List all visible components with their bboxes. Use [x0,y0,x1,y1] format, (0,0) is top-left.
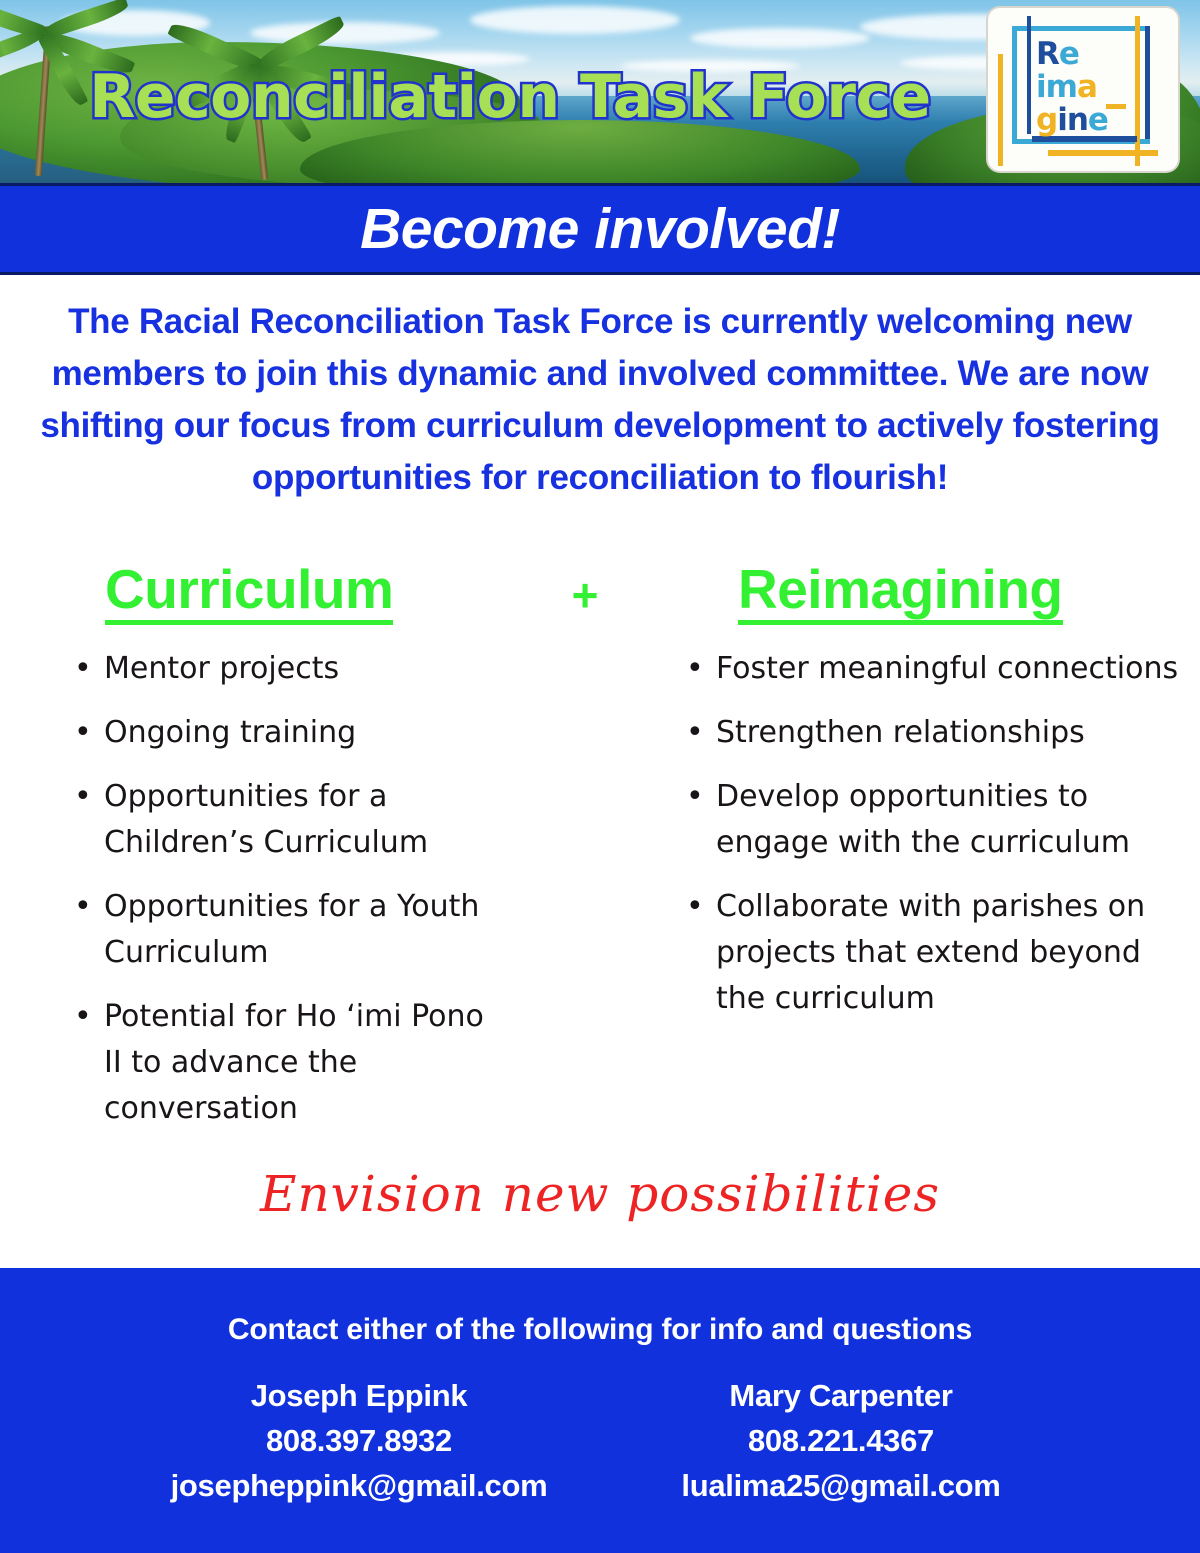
logo-text-ima-a: im [1036,69,1077,105]
hero-header: Reconciliation Task Force Re ima gine [0,0,1200,183]
list-item: Strengthen relationships [716,710,1191,756]
list-item: Collaborate with parishes on projects th… [716,884,1191,1022]
list-item: Opportunities for a Youth Curriculum [104,884,504,976]
plus-icon: + [563,572,607,618]
reimagining-heading: Reimagining [738,560,1063,625]
contact-email[interactable]: lualima25@gmail.com [631,1463,1051,1508]
logo-line-dark-vertical [1027,16,1031,134]
curriculum-heading: Curriculum [105,560,393,625]
logo-frame-right [1145,26,1150,144]
contact-card: Mary Carpenter 808.221.4367 lualima25@gm… [631,1373,1051,1508]
contact-name: Joseph Eppink [149,1373,569,1418]
logo-line-gold-vertical [1135,16,1140,166]
contact-phone[interactable]: 808.221.4367 [631,1418,1051,1463]
list-item: Opportunities for a Children’s Curriculu… [104,774,504,866]
logo-text-ima-b: a [1077,69,1097,105]
reimagining-bullet-list: Foster meaningful connections Strengthen… [672,646,1191,1040]
logo-text-gine-a: g [1036,102,1057,138]
list-item: Potential for Ho ‘imi Pono II to advance… [104,994,504,1132]
contact-heading: Contact either of the following for info… [0,1313,1200,1347]
logo-wordmark: Re ima gine [1036,38,1108,137]
cloud-icon [470,6,680,34]
logo-underscore-mark [1106,104,1126,109]
tagline: Envision new possibilities [0,1165,1200,1223]
contact-footer: Contact either of the following for info… [0,1268,1200,1553]
logo-frame-top [1012,26,1150,31]
intro-paragraph: The Racial Reconciliation Task Force is … [22,296,1178,504]
logo-text-re-b: e [1059,36,1079,72]
become-involved-banner: Become involved! [0,183,1200,275]
logo-text-gine-c: e [1088,102,1108,138]
reimagine-logo: Re ima gine [988,8,1178,171]
contact-name: Mary Carpenter [631,1373,1051,1418]
logo-text-re-a: R [1036,36,1059,72]
list-item: Develop opportunities to engage with the… [716,774,1191,866]
contact-list: Joseph Eppink 808.397.8932 josepheppink@… [120,1373,1080,1508]
banner-title: Become involved! [360,196,840,262]
list-item: Foster meaningful connections [716,646,1191,692]
cloud-icon [690,28,870,48]
logo-text-gine-b: in [1057,102,1088,138]
contact-card: Joseph Eppink 808.397.8932 josepheppink@… [149,1373,569,1508]
list-item: Ongoing training [104,710,504,756]
logo-frame-left [1012,26,1017,144]
list-item: Mentor projects [104,646,504,692]
logo-line-gold-left [998,54,1003,166]
column-headings: Curriculum + Reimagining [0,560,1200,624]
contact-email[interactable]: josepheppink@gmail.com [149,1463,569,1508]
logo-line-gold-bottom [1048,150,1158,156]
two-column-section: Curriculum + Reimagining Mentor projects… [0,560,1200,624]
cloud-icon [250,22,440,44]
contact-phone[interactable]: 808.397.8932 [149,1418,569,1463]
curriculum-bullet-list: Mentor projects Ongoing training Opportu… [60,646,504,1150]
